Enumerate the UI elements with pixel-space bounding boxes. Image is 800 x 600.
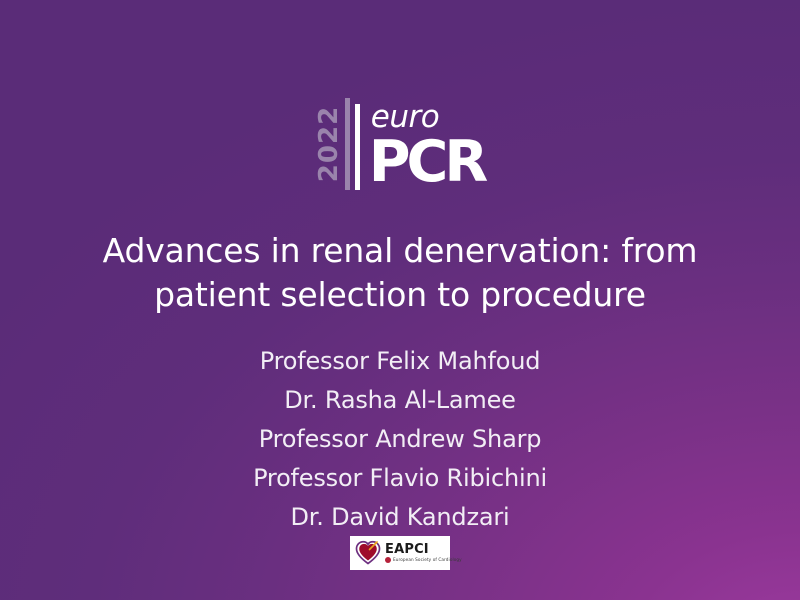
eapci-logo: EAPCI European Society of Cardiology	[350, 536, 450, 570]
speaker-name: Professor Felix Mahfoud	[0, 342, 800, 381]
eapci-subtitle-text: European Society of Cardiology	[393, 558, 462, 562]
logo-year-text: 2022	[316, 106, 342, 182]
presentation-slide: 2022 euro PCR Advances in renal denervat…	[0, 0, 800, 600]
speaker-name: Dr. Rasha Al-Lamee	[0, 381, 800, 420]
speaker-name: Professor Flavio Ribichini	[0, 459, 800, 498]
slide-title: Advances in renal denervation: from pati…	[50, 229, 750, 317]
eapci-text-block: EAPCI European Society of Cardiology	[385, 543, 462, 564]
eapci-logo-container: EAPCI European Society of Cardiology	[0, 536, 800, 570]
europcr-logo: 2022 euro PCR	[0, 96, 800, 196]
logo-divider-bar-lavender	[345, 98, 350, 190]
speaker-list: Professor Felix Mahfoud Dr. Rasha Al-Lam…	[0, 342, 800, 537]
eapci-name-text: EAPCI	[385, 543, 462, 557]
logo-divider-bar-white	[355, 104, 360, 190]
heart-with-arrow-icon	[355, 540, 381, 566]
logo-wordmark: euro PCR	[369, 96, 485, 192]
europcr-logo-inner: 2022 euro PCR	[316, 96, 485, 192]
speaker-name: Dr. David Kandzari	[0, 498, 800, 537]
logo-pcr-text: PCR	[369, 134, 485, 191]
logo-year-container: 2022	[316, 96, 342, 192]
esc-mark-icon	[385, 557, 391, 563]
eapci-subtitle-row: European Society of Cardiology	[385, 557, 462, 563]
speaker-name: Professor Andrew Sharp	[0, 420, 800, 459]
